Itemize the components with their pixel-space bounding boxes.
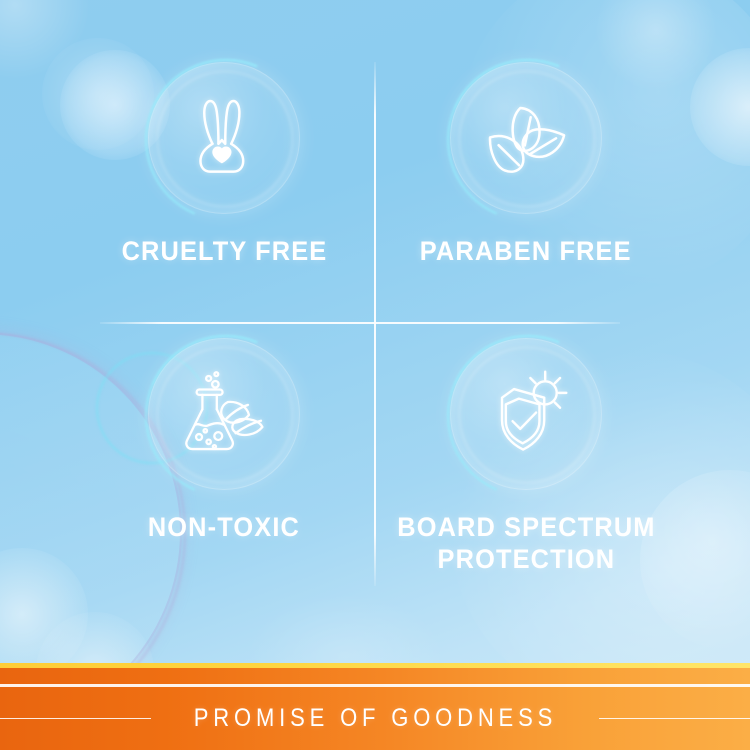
bunny-heart-icon xyxy=(176,90,272,186)
feature-bubble xyxy=(148,338,300,490)
feature-bubble xyxy=(450,62,602,214)
feature-label: NON-TOXIC xyxy=(148,512,300,544)
feature-paraben-free: PARABEN FREE xyxy=(361,62,691,268)
banner-top-stripe xyxy=(0,663,750,668)
banner-rule-right xyxy=(599,718,750,719)
three-leaves-icon xyxy=(478,90,574,186)
shield-sun-icon xyxy=(478,366,574,462)
banner-rule-left xyxy=(0,718,151,719)
banner-title: PROMISE OF GOODNESS xyxy=(193,704,556,733)
promise-of-goodness-poster: CRUELTY FREE xyxy=(0,0,750,750)
feature-bubble xyxy=(450,338,602,490)
feature-board-spectrum-protection: BOARD SPECTRUM PROTECTION xyxy=(361,338,691,576)
promise-banner: PROMISE OF GOODNESS xyxy=(0,663,750,750)
flask-leaf-icon xyxy=(176,366,272,462)
feature-cruelty-free: CRUELTY FREE xyxy=(59,62,389,268)
feature-label: CRUELTY FREE xyxy=(121,236,327,268)
feature-bubble xyxy=(148,62,300,214)
feature-non-toxic: NON-TOXIC xyxy=(59,338,389,544)
banner-content: PROMISE OF GOODNESS xyxy=(0,687,750,750)
feature-label: PARABEN FREE xyxy=(420,236,632,268)
feature-grid: CRUELTY FREE xyxy=(0,0,750,663)
feature-label: BOARD SPECTRUM PROTECTION xyxy=(397,512,655,576)
